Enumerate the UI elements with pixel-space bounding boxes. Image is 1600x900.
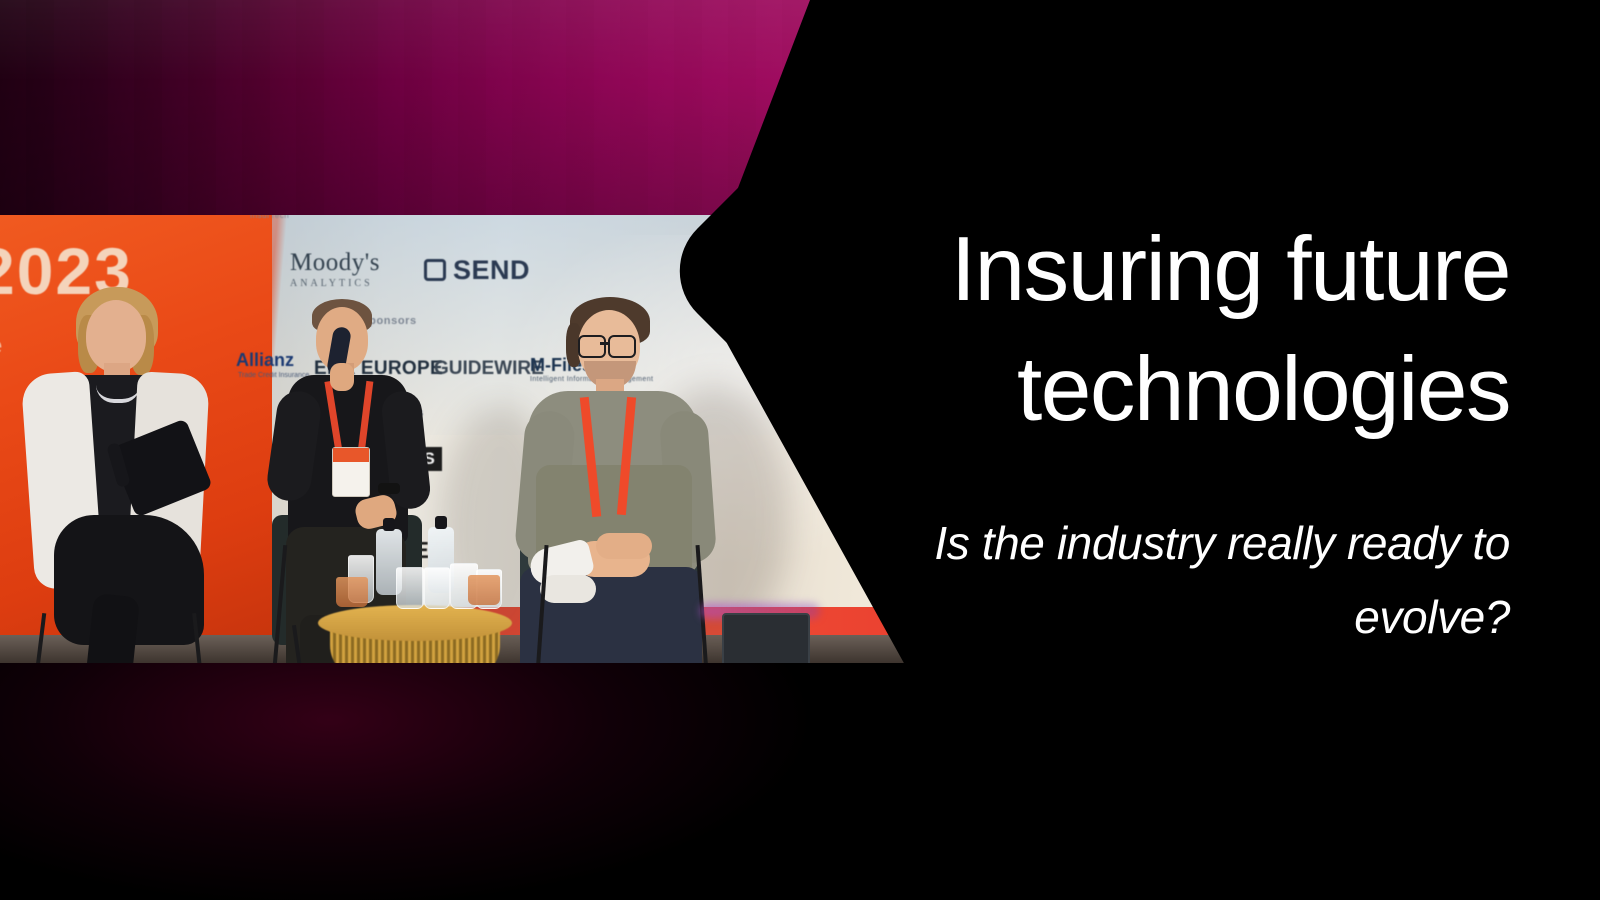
drinking-glass (424, 567, 450, 609)
send-mark-icon (424, 259, 446, 281)
page-title: Insuring future technologies (880, 210, 1510, 450)
sponsor-logo-moodys-sub: ANALYTICS (290, 278, 380, 289)
sponsor-logo-send-name: SEND (453, 255, 530, 285)
amber-tumbler (468, 575, 500, 605)
photo-backdrop-tagline: e (0, 333, 2, 359)
conference-photo: 2023 e InsurTech Moody's ANALYTICS SEND … (0, 215, 935, 663)
page-subtitle: Is the industry really ready to evolve? (880, 506, 1510, 654)
drinking-glass (396, 567, 424, 609)
sponsor-logo-moodys: Moody's ANALYTICS (290, 249, 380, 289)
amber-tumbler (336, 577, 368, 607)
sponsor-logo-moodys-name: Moody's (290, 249, 380, 276)
sponsor-logo-allianz-sub: Trade Credit Insurance (238, 372, 309, 379)
presentation-slide: 2023 e InsurTech Moody's ANALYTICS SEND … (0, 0, 1600, 900)
sponsor-logo-guidewire: GUIDEWIRE (434, 358, 544, 380)
sponsor-logo-allianz: Allianz (236, 350, 294, 371)
sponsor-logo-allianz-name: Allianz (236, 350, 294, 370)
coffee-table-top (318, 605, 512, 641)
sponsor-logo-send: SEND (424, 255, 530, 286)
stage-monitor (722, 613, 810, 663)
magenta-gradient-band (0, 0, 900, 216)
headline-block: Insuring future technologies Is the indu… (880, 210, 1510, 654)
sponsor-top-label: InsurTech (250, 215, 289, 220)
photo-content: 2023 e InsurTech Moody's ANALYTICS SEND … (0, 215, 935, 663)
